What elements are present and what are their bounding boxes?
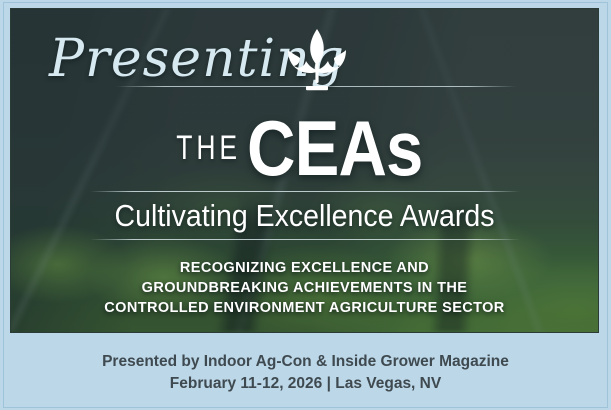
awards-poster: Presenting [0,0,611,410]
awards-title: THE CEAs [11,109,598,187]
presenting-row: Presenting [11,23,598,99]
footer-presented-by: Presented by Indoor Ag-Con & Inside Grow… [102,353,509,371]
subtitle-text: Cultivating Excellence Awards [115,198,495,234]
description-line-1: RECOGNIZING EXCELLENCE AND [180,259,429,277]
subtitle-rule-bottom [90,239,520,240]
hero-content: Presenting [11,9,598,332]
description-line-2: GROUNDBREAKING ACHIEVEMENTS IN THE [142,279,468,297]
footer-date-location: February 11-12, 2026 | Las Vegas, NV [170,375,441,393]
description-line-3: CONTROLLED ENVIRONMENT AGRICULTURE SECTO… [104,299,504,317]
description-block: RECOGNIZING EXCELLENCE AND GROUNDBREAKIN… [11,259,598,317]
title-the-word: THE [176,129,241,168]
hero-photo-panel: Presenting [10,8,599,333]
title-main-word: CEAs [247,109,423,187]
subtitle-rule-top [90,191,520,192]
footer-band: Presented by Indoor Ag-Con & Inside Grow… [0,336,611,410]
three-leaf-plant-icon [284,25,350,97]
subtitle-block: Cultivating Excellence Awards [11,191,598,240]
